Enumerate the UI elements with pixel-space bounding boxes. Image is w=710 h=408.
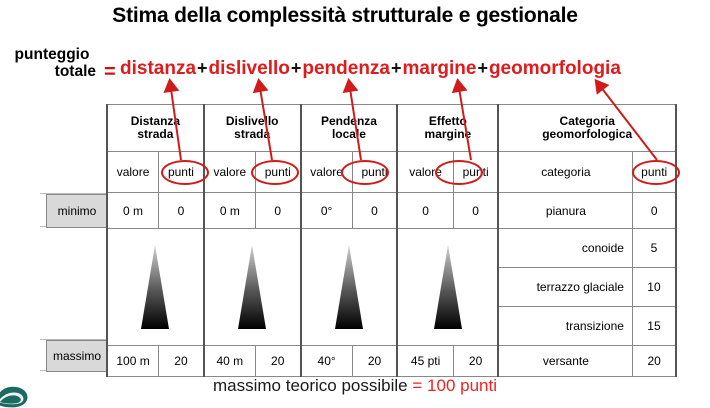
formula-plus-1: + bbox=[196, 58, 209, 78]
sub-header-9: punti bbox=[633, 152, 676, 193]
cell-minimo-distanza-punti: 0 bbox=[159, 193, 204, 229]
sub-header-1: punti bbox=[159, 152, 204, 193]
formula-term-margine: margine bbox=[403, 58, 477, 79]
cell-triangle-distanza bbox=[107, 229, 204, 346]
table-group-header-row: Distanza strada Dislivello strada Penden… bbox=[107, 105, 676, 152]
cell-geomorph-transizione-punti: 15 bbox=[632, 307, 675, 346]
group-header-geomorfologica-l1: Categoria bbox=[560, 114, 615, 128]
formula-terms: distanza+dislivello+pendenza+margine+geo… bbox=[120, 58, 621, 80]
row-label-massimo: massimo bbox=[46, 340, 108, 372]
cell-geomorph-conoide-punti: 5 bbox=[632, 229, 675, 268]
group-header-geomorfologica: Categoria geomorfologica bbox=[498, 105, 676, 152]
group-header-dislivello: Dislivello strada bbox=[204, 105, 301, 152]
sub-header-7: punti bbox=[453, 152, 498, 193]
cell-massimo-dislivello-punti: 20 bbox=[255, 346, 300, 377]
formula-left-line1: punteggio bbox=[4, 46, 100, 63]
table-sub-header-row: valore punti valore punti valore punti v… bbox=[107, 152, 676, 193]
cell-massimo-pendenza-valore: 40° bbox=[301, 346, 353, 377]
formula-term-dislivello: dislivello bbox=[209, 58, 290, 79]
sub-header-6: valore bbox=[397, 152, 453, 193]
table-row-massimo: 100 m 20 40 m 20 40° 20 45 pti 20 versan… bbox=[107, 346, 676, 377]
group-header-dislivello-l1: Dislivello bbox=[226, 114, 279, 128]
group-header-margine-l1: Effetto bbox=[429, 114, 467, 128]
formula-plus-3: + bbox=[390, 58, 403, 78]
gradient-triangle-icon bbox=[327, 241, 371, 333]
group-header-distanza-l1: Distanza bbox=[131, 114, 180, 128]
cell-minimo-margine-punti: 0 bbox=[453, 193, 498, 229]
cell-massimo-distanza-valore: 100 m bbox=[107, 346, 159, 377]
page-title: Stima della complessità strutturale e ge… bbox=[0, 4, 690, 28]
geomorph-row-terrazzo: terrazzo glaciale 10 bbox=[499, 268, 675, 307]
formula-row: punteggio totale = distanza+dislivello+p… bbox=[0, 46, 710, 92]
cell-geomorph-conoide: conoide bbox=[499, 229, 632, 268]
group-header-pendenza-l2: locale bbox=[332, 127, 366, 141]
group-header-pendenza: Pendenza locale bbox=[301, 105, 398, 152]
gradient-triangle-icon bbox=[230, 241, 274, 333]
group-header-distanza: Distanza strada bbox=[107, 105, 204, 152]
formula-plus-4: + bbox=[476, 58, 489, 78]
geomorph-row-transizione: transizione 15 bbox=[499, 307, 675, 346]
formula-term-pendenza: pendenza bbox=[302, 58, 390, 79]
group-header-dislivello-l2: strada bbox=[234, 127, 270, 141]
group-header-margine-l2: margine bbox=[425, 127, 472, 141]
formula-left-line2: totale bbox=[4, 63, 100, 80]
sub-header-0: valore bbox=[107, 152, 159, 193]
sub-header-4: valore bbox=[301, 152, 353, 193]
cell-triangle-dislivello bbox=[204, 229, 301, 346]
cell-minimo-dislivello-punti: 0 bbox=[255, 193, 300, 229]
cell-massimo-categoria: versante bbox=[498, 346, 632, 377]
cell-minimo-margine-valore: 0 bbox=[397, 193, 453, 229]
cell-massimo-margine-valore: 45 pti bbox=[397, 346, 453, 377]
formula-equals: = bbox=[104, 61, 116, 84]
sub-header-5: punti bbox=[352, 152, 397, 193]
sub-header-3: punti bbox=[255, 152, 300, 193]
cell-minimo-pendenza-punti: 0 bbox=[352, 193, 397, 229]
geomorph-subtable: conoide 5 terrazzo glaciale 10 transizio… bbox=[499, 229, 675, 345]
scoring-table: Distanza strada Dislivello strada Penden… bbox=[106, 104, 677, 377]
cell-massimo-dislivello-valore: 40 m bbox=[204, 346, 256, 377]
cell-geomorph-terrazzo: terrazzo glaciale bbox=[499, 268, 632, 307]
group-header-distanza-l2: strada bbox=[137, 127, 173, 141]
sub-header-2: valore bbox=[204, 152, 256, 193]
formula-left-label: punteggio totale bbox=[4, 46, 100, 80]
formula-term-geomorfologia: geomorfologia bbox=[489, 58, 621, 79]
cell-massimo-pendenza-punti: 20 bbox=[352, 346, 397, 377]
cell-minimo-pendenza-valore: 0° bbox=[301, 193, 353, 229]
cell-minimo-categoria: pianura bbox=[498, 193, 632, 229]
cell-geomorph-middle-group: conoide 5 terrazzo glaciale 10 transizio… bbox=[498, 229, 676, 346]
cell-massimo-categoria-punti: 20 bbox=[633, 346, 676, 377]
cell-minimo-dislivello-valore: 0 m bbox=[204, 193, 256, 229]
table-row-middle: conoide 5 terrazzo glaciale 10 transizio… bbox=[107, 229, 676, 346]
cell-minimo-categoria-punti: 0 bbox=[633, 193, 676, 229]
footer-text: massimo teorico possibile bbox=[213, 376, 408, 395]
cell-geomorph-terrazzo-punti: 10 bbox=[632, 268, 675, 307]
sub-header-8: categoria bbox=[498, 152, 632, 193]
footer-summary: massimo teorico possibile = 100 punti bbox=[0, 376, 710, 396]
table-row-minimo: 0 m 0 0 m 0 0° 0 0 0 pianura 0 bbox=[107, 193, 676, 229]
cell-geomorph-transizione: transizione bbox=[499, 307, 632, 346]
slide-canvas: Stima della complessità strutturale e ge… bbox=[0, 0, 710, 404]
footer-value: 100 punti bbox=[427, 376, 497, 395]
gradient-triangle-icon bbox=[426, 241, 470, 333]
geomorph-row-conoide: conoide 5 bbox=[499, 229, 675, 268]
group-header-pendenza-l1: Pendenza bbox=[321, 114, 377, 128]
cell-triangle-pendenza bbox=[301, 229, 398, 346]
cell-massimo-distanza-punti: 20 bbox=[159, 346, 204, 377]
formula-plus-2: + bbox=[290, 58, 303, 78]
gradient-triangle-icon bbox=[133, 241, 177, 333]
cell-triangle-margine bbox=[397, 229, 498, 346]
group-header-geomorfologica-l2: geomorfologica bbox=[542, 127, 632, 141]
row-label-minimo: minimo bbox=[46, 194, 108, 228]
formula-term-distanza: distanza bbox=[120, 58, 196, 79]
footer-equals: = bbox=[412, 376, 422, 395]
group-header-margine: Effetto margine bbox=[397, 105, 498, 152]
cell-massimo-margine-punti: 20 bbox=[453, 346, 498, 377]
cell-minimo-distanza-valore: 0 m bbox=[107, 193, 159, 229]
